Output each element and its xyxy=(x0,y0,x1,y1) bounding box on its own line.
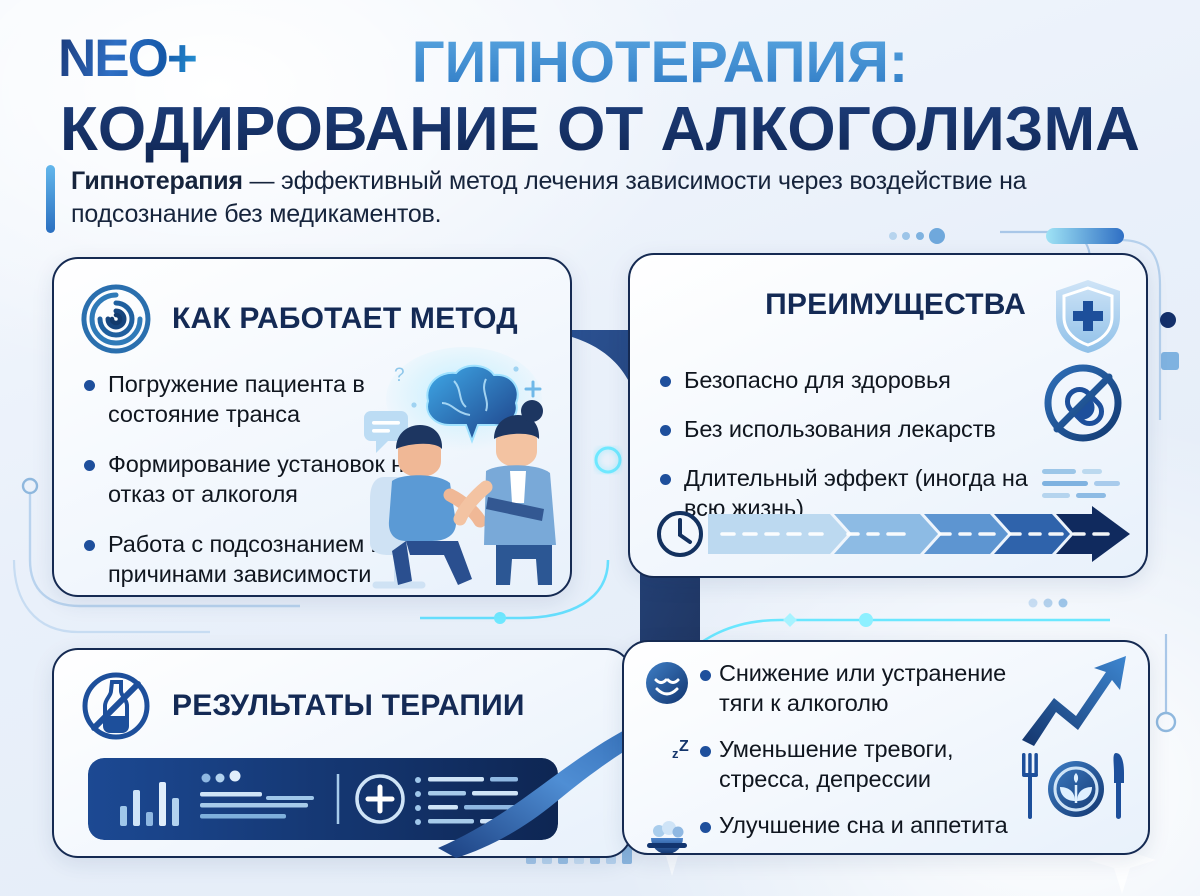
list-item: Улучшение сна и аппетита xyxy=(642,810,1022,855)
bullet-text: Снижение или устранение тяги к алкоголю xyxy=(719,658,1019,718)
list-item: z Z Уменьшение тревоги, стресса, депресс… xyxy=(642,734,1022,794)
card-title-method: КАК РАБОТАЕТ МЕТОД xyxy=(172,301,518,337)
subtitle-text: Гипнотерапия — эффективный метод лечения… xyxy=(71,165,1106,233)
subtitle-block: Гипнотерапия — эффективный метод лечения… xyxy=(46,165,1106,233)
bullet-dot-icon xyxy=(84,540,95,551)
bullet-text: Безопасно для здоровья xyxy=(684,365,951,395)
shield-cross-icon xyxy=(1052,277,1124,355)
bullet-dot-icon xyxy=(660,425,671,436)
list-item: Снижение или устранение тяги к алкоголю xyxy=(642,658,1022,718)
card-title-results: РЕЗУЛЬТАТЫ ТЕРАПИИ xyxy=(172,688,525,724)
duration-timeline-arrow xyxy=(652,506,1130,562)
outcome-list: Снижение или устранение тяги к алкоголю … xyxy=(642,658,1022,855)
bullet-text: Улучшение сна и аппетита xyxy=(719,810,1008,840)
food-bowl-icon xyxy=(642,810,692,855)
bullet-dot-icon xyxy=(700,670,711,681)
card-title-benefits: ПРЕИМУЩЕСТВА xyxy=(765,287,1026,323)
bullet-dot-icon xyxy=(84,380,95,391)
bullet-dot-icon xyxy=(700,822,711,833)
card-benefits: ПРЕИМУЩЕСТВА Безопасно для здоровья Без … xyxy=(628,253,1148,578)
svg-text:z: z xyxy=(672,746,679,761)
no-alcohol-bottle-icon xyxy=(78,668,154,744)
calm-face-icon xyxy=(642,658,692,708)
subtitle-lead: Гипнотерапия xyxy=(71,167,243,195)
svg-text:?: ? xyxy=(394,365,405,386)
bullet-text: Уменьшение тревоги, стресса, депрессии xyxy=(719,734,1019,794)
bullet-text: Без использования лекарств xyxy=(684,414,996,444)
infographic-canvas: NEO+ ГИПНОТЕРАПИЯ: КОДИРОВАНИЕ ОТ АЛКОГО… xyxy=(0,0,1200,896)
list-item: Безопасно для здоровья xyxy=(660,365,1050,395)
no-pills-icon xyxy=(1040,360,1126,446)
bullet-dot-icon xyxy=(660,474,671,485)
card-outcomes: Снижение или устранение тяги к алкоголю … xyxy=(622,640,1150,855)
knife-icon xyxy=(1114,753,1125,819)
moon-sleep-icon: z Z xyxy=(642,734,692,784)
clock-icon xyxy=(659,513,701,555)
card-how-method-works: КАК РАБОТАЕТ МЕТОД Погружение пациента в… xyxy=(52,257,572,597)
page-title-line2: КОДИРОВАНИЕ ОТ АЛКОГОЛИЗМА xyxy=(0,95,1200,165)
bullet-dot-icon xyxy=(660,376,671,387)
list-item: Без использования лекарств xyxy=(660,414,1050,444)
text-lines-decoration xyxy=(1042,467,1122,501)
subtitle-accent-bar xyxy=(46,165,55,233)
spiral-hypnosis-icon xyxy=(78,281,154,357)
bullet-dot-icon xyxy=(700,746,711,757)
card-therapy-results: РЕЗУЛЬТАТЫ ТЕРАПИИ xyxy=(52,648,632,858)
fork-icon xyxy=(1022,753,1038,819)
therapist-patient-brain-illustration: ? xyxy=(346,345,572,595)
healthy-plate-icon xyxy=(1020,749,1128,825)
trend-up-icon xyxy=(1020,654,1130,754)
plate-icon xyxy=(1048,761,1104,817)
bullet-dot-icon xyxy=(84,460,95,471)
results-data-panel xyxy=(88,758,558,840)
svg-text:Z: Z xyxy=(679,738,689,755)
page-title-line1: ГИПНОТЕРАПИЯ: xyxy=(0,30,1200,96)
bullet-list-benefits: Безопасно для здоровья Без использования… xyxy=(660,365,1050,523)
card-header-results: РЕЗУЛЬТАТЫ ТЕРАПИИ xyxy=(78,668,525,744)
